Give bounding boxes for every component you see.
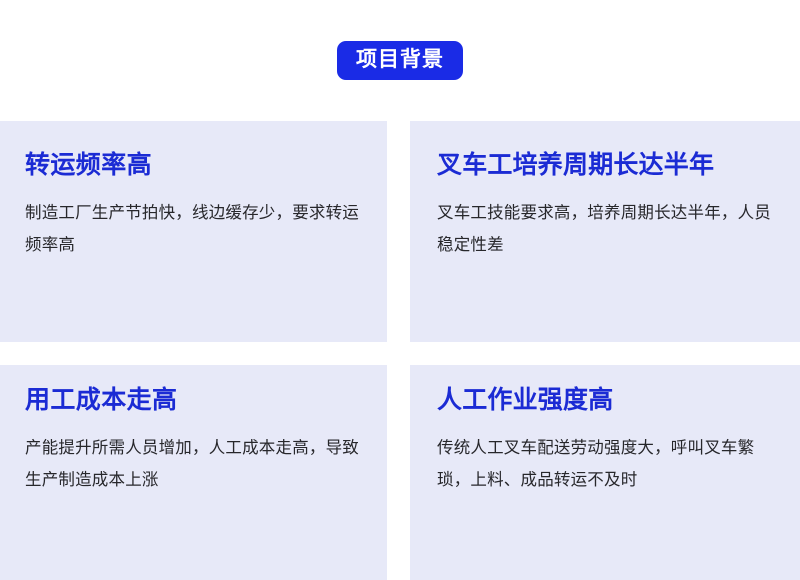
project-background-section: 项目背景 转运频率高 制造工厂生产节拍快，线边缓存少，要求转运频率高 叉车工培养… [0,0,800,580]
column-gutter [387,365,410,580]
background-card-transfer-frequency: 转运频率高 制造工厂生产节拍快，线边缓存少，要求转运频率高 [0,121,387,342]
card-body-text: 叉车工技能要求高，培养周期长达半年，人员稳定性差 [437,197,778,261]
section-header: 项目背景 [0,0,800,121]
background-card-labor-cost: 用工成本走高 产能提升所需人员增加，人工成本走高，导致生产制造成本上涨 [0,365,387,580]
column-gutter [387,121,410,342]
card-body-text: 产能提升所需人员增加，人工成本走高，导致生产制造成本上涨 [25,432,361,496]
section-title-badge: 项目背景 [337,41,463,80]
row-gutter [410,342,800,365]
row-gutter [0,342,387,365]
card-title: 用工成本走高 [25,385,361,416]
card-title: 人工作业强度高 [437,385,780,416]
background-card-manual-workload: 人工作业强度高 传统人工叉车配送劳动强度大，呼叫叉车繁琐，上料、成品转运不及时 [410,365,800,580]
grid-center-gutter [387,342,410,365]
background-cards-grid: 转运频率高 制造工厂生产节拍快，线边缓存少，要求转运频率高 叉车工培养周期长达半… [0,121,800,580]
card-body-text: 传统人工叉车配送劳动强度大，呼叫叉车繁琐，上料、成品转运不及时 [437,432,780,496]
card-title: 叉车工培养周期长达半年 [437,150,778,181]
card-body-text: 制造工厂生产节拍快，线边缓存少，要求转运频率高 [25,197,361,261]
background-card-forklift-training: 叉车工培养周期长达半年 叉车工技能要求高，培养周期长达半年，人员稳定性差 [410,121,800,342]
card-title: 转运频率高 [25,150,361,181]
